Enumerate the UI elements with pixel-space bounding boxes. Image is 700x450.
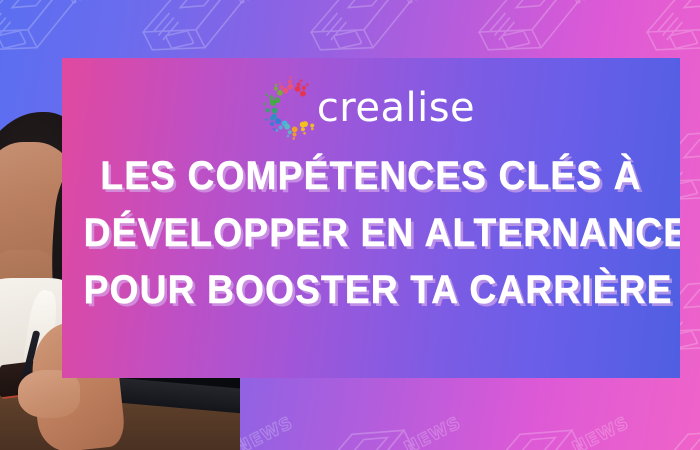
headline-line-2: DÉVELOPPER EN ALTERNANCE xyxy=(84,205,659,262)
headline-line-3: POUR BOOSTER TA CARRIÈRE xyxy=(84,262,659,319)
headline: LES COMPÉTENCES CLÉS À DÉVELOPPER EN ALT… xyxy=(84,148,659,318)
crealise-dot-ring-logo-icon xyxy=(261,76,325,140)
brand-logo: crealise xyxy=(62,72,680,144)
brand-name: crealise xyxy=(317,88,475,128)
headline-line-1: LES COMPÉTENCES CLÉS À xyxy=(84,148,659,205)
content-panel: crealise LES COMPÉTENCES CLÉS À DÉVELOPP… xyxy=(62,58,680,378)
promotional-poster: crealise LES COMPÉTENCES CLÉS À DÉVELOPP… xyxy=(0,0,700,450)
